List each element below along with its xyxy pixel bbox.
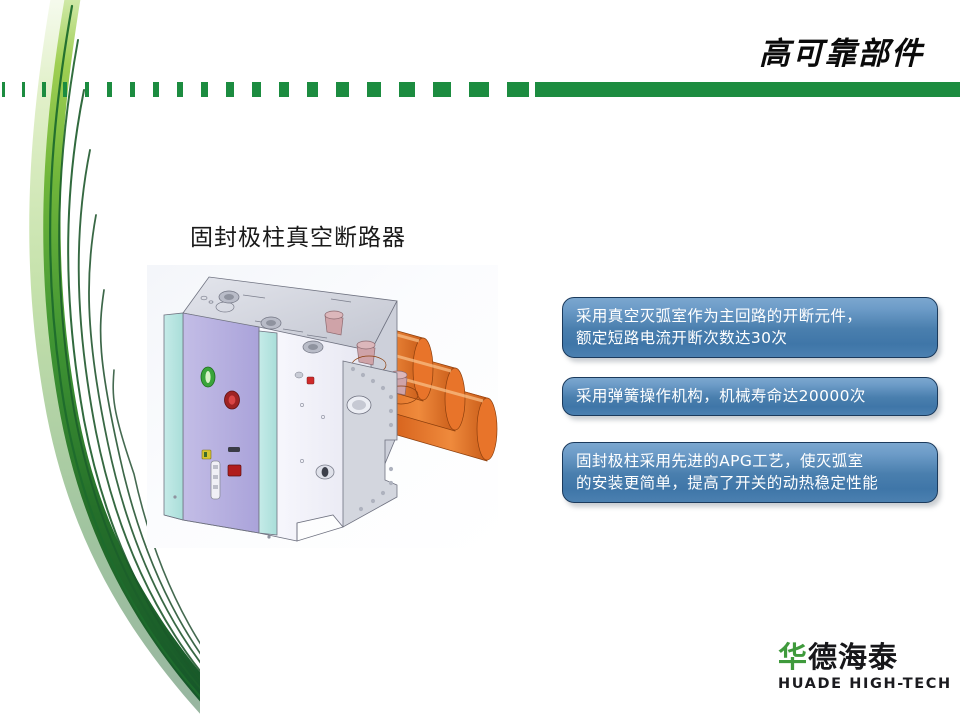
callout-spring-mechanism: 采用弹簧操作机构，机械寿命达20000次: [562, 377, 938, 416]
callout-apg-process: 固封极柱采用先进的APG工艺，使灭弧室 的安装更简单，提高了开关的动热稳定性能: [562, 442, 938, 503]
callout-vacuum-interrupter: 采用真空灭弧室作为主回路的开断元件， 额定短路电流开断次数达30次: [562, 297, 938, 358]
logo-chinese-wordmark: 华德海泰: [778, 643, 948, 673]
callout-line: 采用真空灭弧室作为主回路的开断元件，: [576, 305, 925, 327]
logo-english-wordmark: HUADE HIGH-TECH: [778, 676, 948, 692]
dashed-green-divider: [0, 82, 960, 97]
callout-line: 采用弹簧操作机构，机械寿命达20000次: [576, 385, 925, 407]
solid-sealed-pole-vacuum-circuit-breaker-render: [147, 265, 498, 548]
callout-line: 固封极柱采用先进的APG工艺，使灭弧室: [576, 450, 925, 472]
logo-chinese-rest: 德海泰: [808, 640, 898, 674]
company-logo: 华德海泰 HUADE HIGH-TECH: [778, 643, 948, 699]
logo-leaf-glyph: 华: [778, 640, 808, 674]
page-title: 高可靠部件: [759, 28, 924, 73]
product-heading: 固封极柱真空断路器: [190, 218, 406, 252]
callout-line: 额定短路电流开断次数达30次: [576, 327, 925, 349]
slide-canvas: 高可靠部件: [0, 0, 960, 720]
callout-line: 的安装更简单，提高了开关的动热稳定性能: [576, 472, 925, 494]
